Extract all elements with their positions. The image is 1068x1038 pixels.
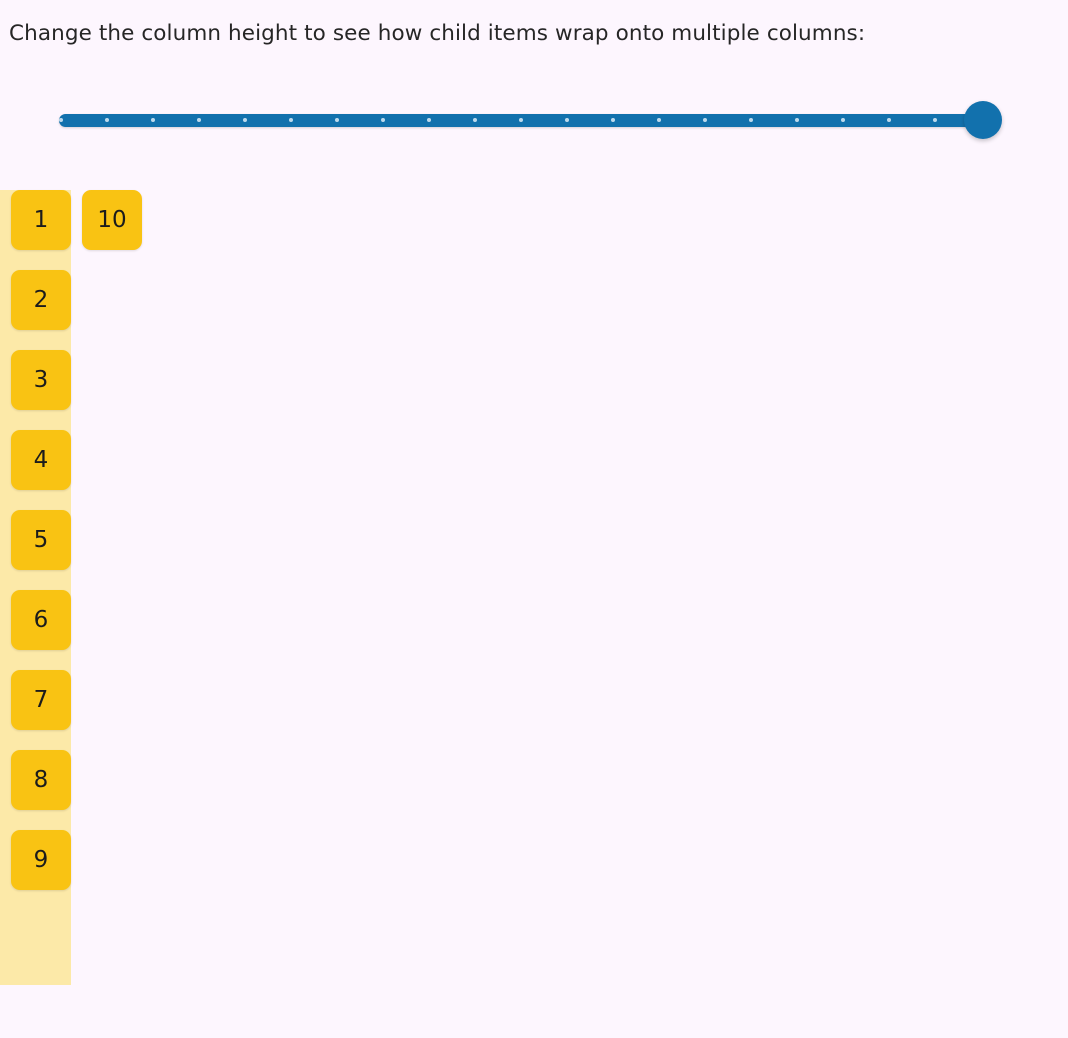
flex-item-label: 4 — [34, 449, 49, 472]
flex-item-label: 7 — [34, 689, 49, 712]
flex-item: 5 — [11, 510, 71, 570]
flex-item: 1 — [11, 190, 71, 250]
flex-item: 2 — [11, 270, 71, 330]
flex-item-label: 9 — [34, 849, 49, 872]
flex-item: 7 — [11, 670, 71, 730]
flex-item-label: 5 — [34, 529, 49, 552]
flex-item: 4 — [11, 430, 71, 490]
flex-item-label: 1 — [34, 209, 49, 232]
flex-item: 9 — [11, 830, 71, 890]
flex-item: 6 — [11, 590, 71, 650]
flex-item-label: 8 — [34, 769, 49, 792]
flex-column-container: 12345678910 — [0, 190, 71, 985]
flex-item-label: 3 — [34, 369, 49, 392]
slider-track[interactable] — [59, 114, 983, 127]
flex-item-label: 6 — [34, 609, 49, 632]
column-height-slider[interactable] — [59, 100, 983, 140]
page-instruction: Change the column height to see how chil… — [9, 20, 865, 48]
flex-item-label: 2 — [34, 289, 49, 312]
flex-item: 3 — [11, 350, 71, 410]
flex-item-label: 10 — [97, 209, 126, 232]
flex-item: 8 — [11, 750, 71, 810]
flex-item: 10 — [82, 190, 142, 250]
slider-thumb[interactable] — [964, 101, 1002, 139]
